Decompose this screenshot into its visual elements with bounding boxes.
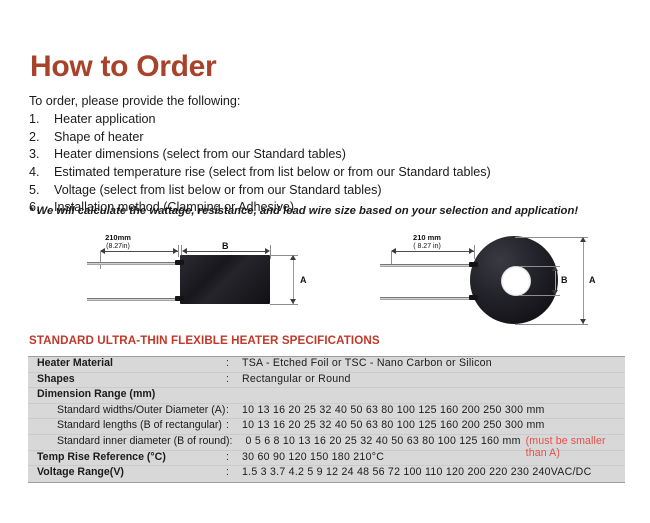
- heater-diagrams: 210mm (8.27in) B: [0, 228, 650, 333]
- row-label: Standard lengths (B of rectangular): [28, 419, 226, 431]
- rectangular-heater-body: [180, 255, 270, 304]
- rect-width-label: B: [222, 241, 229, 251]
- list-item: 3. Heater dimensions (select from our St…: [29, 146, 619, 163]
- round-lead-wire-bottom: [380, 297, 473, 300]
- rect-height-ext-bottom: [270, 304, 298, 305]
- table-row: Heater Material : TSA - Etched Foil or T…: [28, 357, 625, 373]
- row-colon: :: [226, 357, 242, 369]
- round-heater-inner-hole: [501, 266, 531, 296]
- rect-lead-wire-top: [87, 262, 179, 265]
- intro-text: To order, please provide the following:: [29, 94, 240, 109]
- round-lead-length-label: 210 mm ( 8.27 in): [386, 233, 468, 251]
- row-value: 10 13 16 20 25 32 40 50 63 80 100 125 16…: [242, 404, 625, 416]
- row-colon: :: [226, 466, 242, 478]
- row-colon: :: [230, 435, 246, 447]
- row-label: Heater Material: [28, 357, 226, 369]
- row-value: 30 60 90 120 150 180 210°C: [242, 451, 625, 463]
- round-outer-arrow-up: [580, 237, 586, 242]
- round-heater-diagram: 210 mm ( 8.27 in) B: [370, 228, 635, 333]
- list-item-number: 1.: [29, 111, 54, 128]
- row-value: Rectangular or Round: [242, 373, 625, 385]
- round-inner-ext-bottom: [520, 295, 560, 296]
- specifications-table: Heater Material : TSA - Etched Foil or T…: [28, 356, 625, 483]
- round-outer-ext-bottom: [515, 324, 588, 325]
- rect-lead-length-label: 210mm (8.27in): [80, 233, 156, 251]
- list-item-label: Voltage (select from list below or from …: [54, 182, 619, 199]
- row-colon: :: [226, 404, 242, 416]
- round-inner-arrow-down: [552, 290, 558, 295]
- row-value: 1.5 3 3.7 4.2 5 9 12 24 48 56 72 100 110…: [242, 466, 625, 478]
- table-row: Dimension Range (mm): [28, 388, 625, 404]
- list-item-number: 5.: [29, 182, 54, 199]
- rect-lead-connector-bottom: [175, 296, 184, 301]
- row-label: Standard inner diameter (B of round): [28, 435, 230, 447]
- row-label: Shapes: [28, 373, 226, 385]
- row-value: 0 5 6 8 10 13 16 20 25 32 40 50 63 80 10…: [246, 435, 521, 447]
- round-inner-arrow-up: [552, 266, 558, 271]
- list-item: 1. Heater application: [29, 111, 619, 128]
- list-item-label: Estimated temperature rise (select from …: [54, 164, 619, 181]
- round-heater-body: [470, 236, 558, 324]
- list-item-label: Shape of heater: [54, 129, 619, 146]
- list-item-number: 2.: [29, 129, 54, 146]
- round-lead-ext-right: [474, 245, 475, 259]
- list-item-number: 4.: [29, 164, 54, 181]
- row-value: 10 13 16 20 25 32 40 50 63 80 100 125 16…: [242, 419, 625, 431]
- table-row: Standard lengths (B of rectangular) : 10…: [28, 419, 625, 435]
- row-colon: :: [226, 419, 242, 431]
- row-label: Temp Rise Reference (°C): [28, 451, 226, 463]
- calculation-note: * We will calculate the wattage, resista…: [29, 205, 578, 219]
- rect-lead-wire-bottom: [87, 298, 179, 301]
- round-inner-label: B: [561, 275, 568, 285]
- round-lead-connector-bottom: [469, 295, 478, 300]
- rect-lead-ext-left: [100, 251, 101, 269]
- list-item-label: Heater application: [54, 111, 619, 128]
- rect-height-arrow-up: [290, 255, 296, 260]
- rect-width-ext-right: [270, 245, 271, 259]
- round-outer-dim-line: [583, 237, 584, 324]
- list-item: 4. Estimated temperature rise (select fr…: [29, 164, 619, 181]
- round-outer-arrow-down: [580, 319, 586, 324]
- table-row: Standard inner diameter (B of round) : 0…: [28, 435, 625, 451]
- table-row: Voltage Range(V) : 1.5 3 3.7 4.2 5 9 12 …: [28, 466, 625, 482]
- row-colon: :: [226, 451, 242, 463]
- specifications-heading: STANDARD ULTRA-THIN FLEXIBLE HEATER SPEC…: [29, 334, 380, 347]
- rectangular-heater-diagram: 210mm (8.27in) B: [62, 228, 327, 333]
- row-label: Dimension Range (mm): [28, 388, 226, 400]
- rect-height-arrow-down: [290, 299, 296, 304]
- round-lead-connector-top: [469, 262, 478, 267]
- round-outer-ext-top: [515, 237, 588, 238]
- table-row: Standard widths/Outer Diameter (A) : 10 …: [28, 404, 625, 420]
- rect-lead-dim-line: [100, 251, 178, 252]
- page-title: How to Order: [30, 52, 216, 82]
- order-steps-list: 1. Heater application 2. Shape of heater…: [29, 111, 619, 217]
- round-outer-label: A: [589, 275, 596, 285]
- list-item-number: 3.: [29, 146, 54, 163]
- rect-width-arrow-left: [182, 248, 187, 254]
- round-lead-wire-top: [380, 264, 473, 267]
- table-row: Temp Rise Reference (°C) : 30 60 90 120 …: [28, 451, 625, 467]
- row-value: TSA - Etched Foil or TSC - Nano Carbon o…: [242, 357, 625, 369]
- rect-height-dim-line: [293, 255, 294, 304]
- row-colon: :: [226, 373, 242, 385]
- table-row: Shapes : Rectangular or Round: [28, 373, 625, 389]
- rect-lead-ext-right: [178, 245, 179, 257]
- row-label: Voltage Range(V): [28, 466, 226, 478]
- rect-height-label: A: [300, 275, 307, 285]
- list-item-label: Heater dimensions (select from our Stand…: [54, 146, 619, 163]
- how-to-order-page: How to Order To order, please provide th…: [0, 0, 650, 523]
- round-lead-dim-line: [392, 251, 474, 252]
- rect-lead-connector-top: [175, 260, 184, 265]
- row-label: Standard widths/Outer Diameter (A): [28, 404, 226, 416]
- list-item: 2. Shape of heater: [29, 129, 619, 146]
- rect-width-dim-line: [184, 251, 266, 252]
- list-item: 5. Voltage (select from list below or fr…: [29, 182, 619, 199]
